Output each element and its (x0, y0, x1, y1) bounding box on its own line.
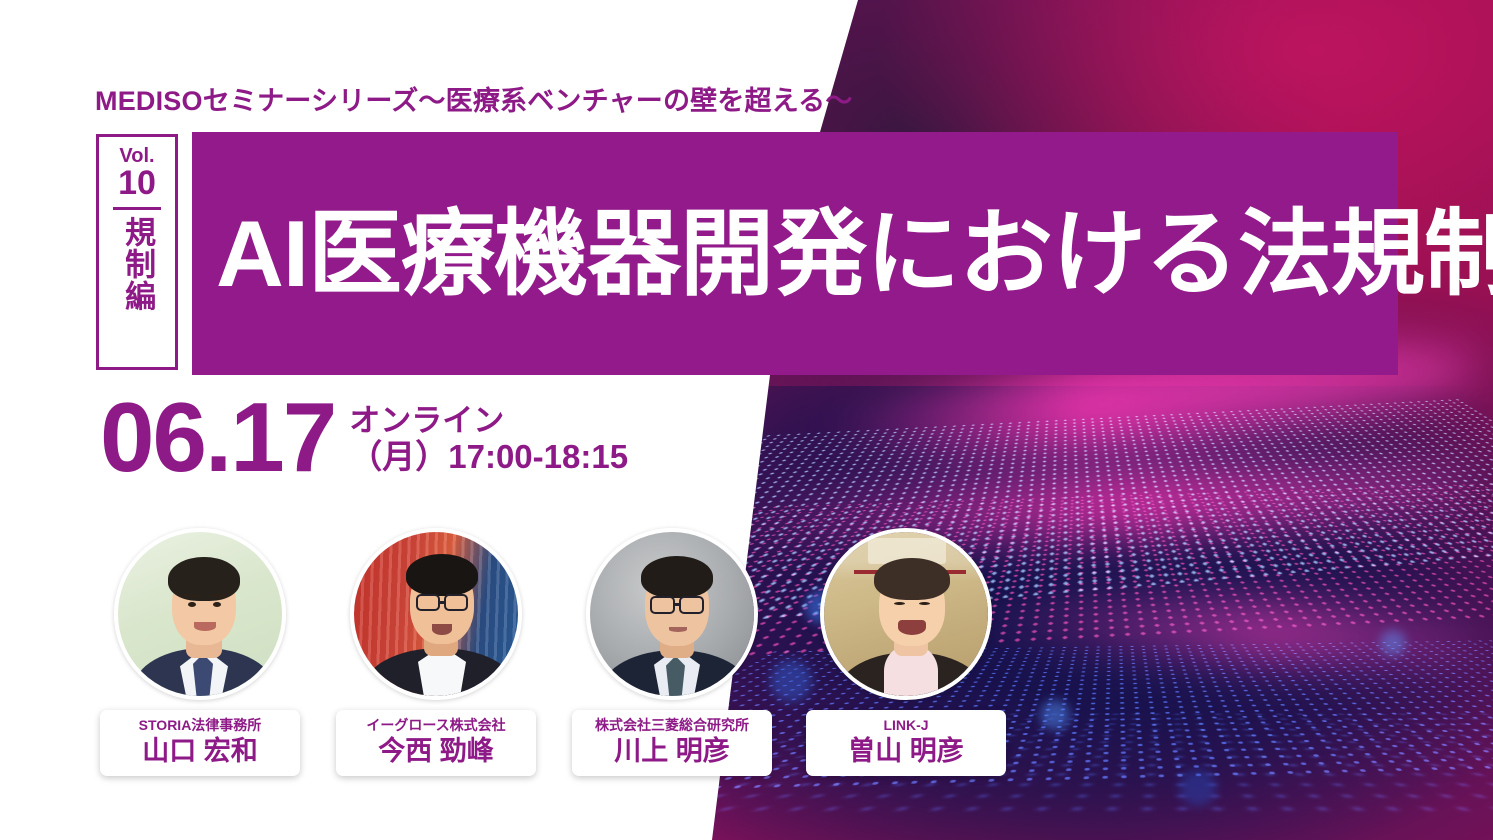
volume-badge: Vol. 10 規制編 (96, 134, 178, 370)
title-band: AI医療機器開発における法規制 (192, 132, 1398, 375)
seminar-banner: MEDISOセミナーシリーズ～医療系ベンチャーの壁を超える～ Vol. 10 規… (0, 0, 1493, 840)
speaker-org: 株式会社三菱総合研究所 (578, 717, 766, 734)
volume-divider (113, 207, 161, 210)
speaker-name: 今西 勁峰 (342, 735, 530, 767)
speaker-name: 山口 宏和 (106, 735, 294, 767)
speaker-name-card: イーグロース株式会社 今西 勁峰 (336, 710, 536, 776)
speaker-org: イーグロース株式会社 (342, 717, 530, 734)
speaker-org: STORIA法律事務所 (106, 717, 294, 734)
avatar (350, 528, 522, 700)
speaker-name: 川上 明彦 (578, 735, 766, 767)
speaker-name-card: 株式会社三菱総合研究所 川上 明彦 (572, 710, 772, 776)
event-datetime: 06.17 オンライン （月）17:00-18:15 (100, 392, 628, 482)
speaker-name: 曽山 明彦 (812, 735, 1000, 767)
volume-series-label: 規制編 (121, 216, 153, 312)
speaker-name-card: LINK-J 曽山 明彦 (806, 710, 1006, 776)
event-format: オンライン (349, 404, 628, 439)
avatar (114, 528, 286, 700)
bokeh-dot-4 (1380, 630, 1406, 656)
avatar (586, 528, 758, 700)
series-subtitle: MEDISOセミナーシリーズ～医療系ベンチャーの壁を超える～ (95, 79, 853, 118)
volume-number: 10 (118, 166, 156, 200)
bokeh-dot-3 (1040, 700, 1070, 730)
page-title: AI医療機器開発における法規制 (192, 207, 1493, 301)
bokeh-dot-2 (770, 660, 812, 702)
speaker-name-card: STORIA法律事務所 山口 宏和 (100, 710, 300, 776)
event-time: （月）17:00-18:15 (349, 439, 628, 476)
avatar (820, 528, 992, 700)
speaker-org: LINK-J (812, 717, 1000, 734)
bokeh-dot-5 (1180, 770, 1216, 806)
event-date: 06.17 (100, 392, 335, 482)
